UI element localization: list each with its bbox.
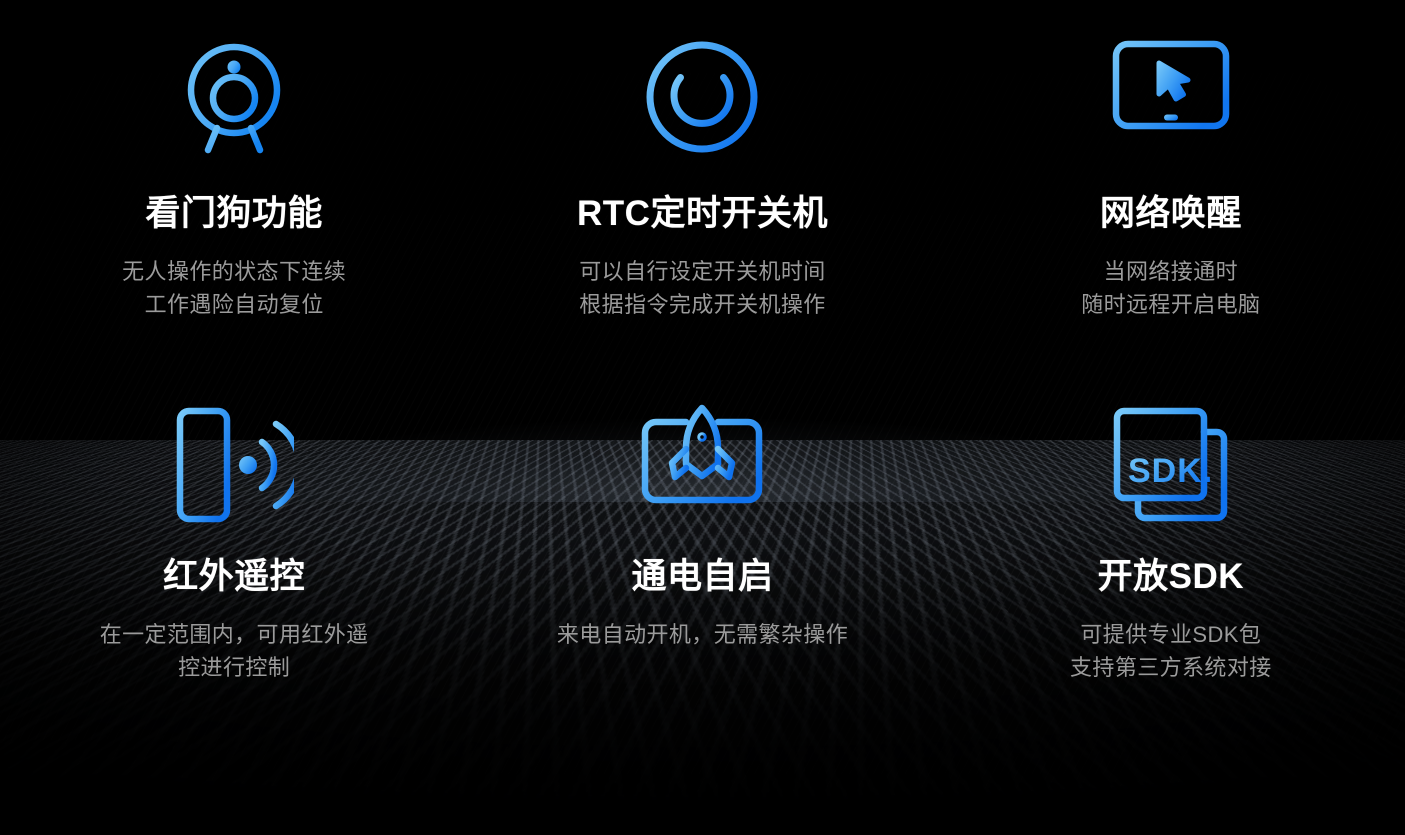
- feature-title: 红外遥控: [163, 558, 305, 597]
- feature-description: 来电自动开机，无需繁杂操作: [557, 618, 848, 651]
- feature-card-wake-on-lan: 网络唤醒 当网络接通时 随时远程开启电脑: [937, 22, 1405, 390]
- remote-control-signal-icon: [174, 390, 294, 540]
- desc-line: 工作遇险自动复位: [122, 288, 346, 321]
- desc-line: 根据指令完成开关机操作: [579, 288, 825, 321]
- feature-description: 无人操作的状态下连续 工作遇险自动复位: [122, 255, 346, 321]
- desc-line: 控进行控制: [100, 651, 369, 684]
- feature-description: 在一定范围内，可用红外遥 控进行控制: [100, 618, 369, 684]
- desc-line: 可以自行设定开关机时间: [579, 255, 825, 288]
- power-button-icon: [642, 22, 762, 172]
- monitor-rocket-icon: [639, 390, 765, 540]
- desc-line: 来电自动开机，无需繁杂操作: [557, 618, 848, 651]
- feature-title: RTC定时开关机: [577, 195, 828, 234]
- feature-card-auto-power-on: 通电自启 来电自动开机，无需繁杂操作: [468, 390, 936, 808]
- sdk-windows-icon: SDK.: [1112, 390, 1230, 540]
- sdk-icon-label: SDK.: [1128, 452, 1213, 490]
- desc-line: 可提供专业SDK包: [1070, 618, 1272, 651]
- webcam-icon: [175, 22, 293, 172]
- feature-grid: 看门狗功能 无人操作的状态下连续 工作遇险自动复位: [0, 0, 1405, 835]
- desc-line: 当网络接通时: [1081, 255, 1260, 288]
- feature-title: 网络唤醒: [1100, 195, 1242, 234]
- feature-title: 开放SDK: [1098, 558, 1244, 597]
- desc-line: 在一定范围内，可用红外遥: [100, 618, 369, 651]
- feature-card-open-sdk: SDK. 开放SDK 可提供专业SDK包 支持第三方系统对接: [937, 390, 1405, 808]
- feature-title: 通电自启: [631, 558, 773, 597]
- desc-line: 无人操作的状态下连续: [122, 255, 346, 288]
- feature-card-rtc-power: RTC定时开关机 可以自行设定开关机时间 根据指令完成开关机操作: [468, 22, 936, 390]
- desc-line: 支持第三方系统对接: [1070, 651, 1272, 684]
- feature-description: 可以自行设定开关机时间 根据指令完成开关机操作: [579, 255, 825, 321]
- desc-line: 随时远程开启电脑: [1081, 288, 1260, 321]
- feature-title: 看门狗功能: [145, 195, 323, 234]
- feature-card-ir-remote: 红外遥控 在一定范围内，可用红外遥 控进行控制: [0, 390, 468, 808]
- feature-card-watchdog: 看门狗功能 无人操作的状态下连续 工作遇险自动复位: [0, 22, 468, 390]
- monitor-cursor-icon: [1111, 22, 1231, 172]
- feature-description: 可提供专业SDK包 支持第三方系统对接: [1070, 618, 1272, 684]
- feature-description: 当网络接通时 随时远程开启电脑: [1081, 255, 1260, 321]
